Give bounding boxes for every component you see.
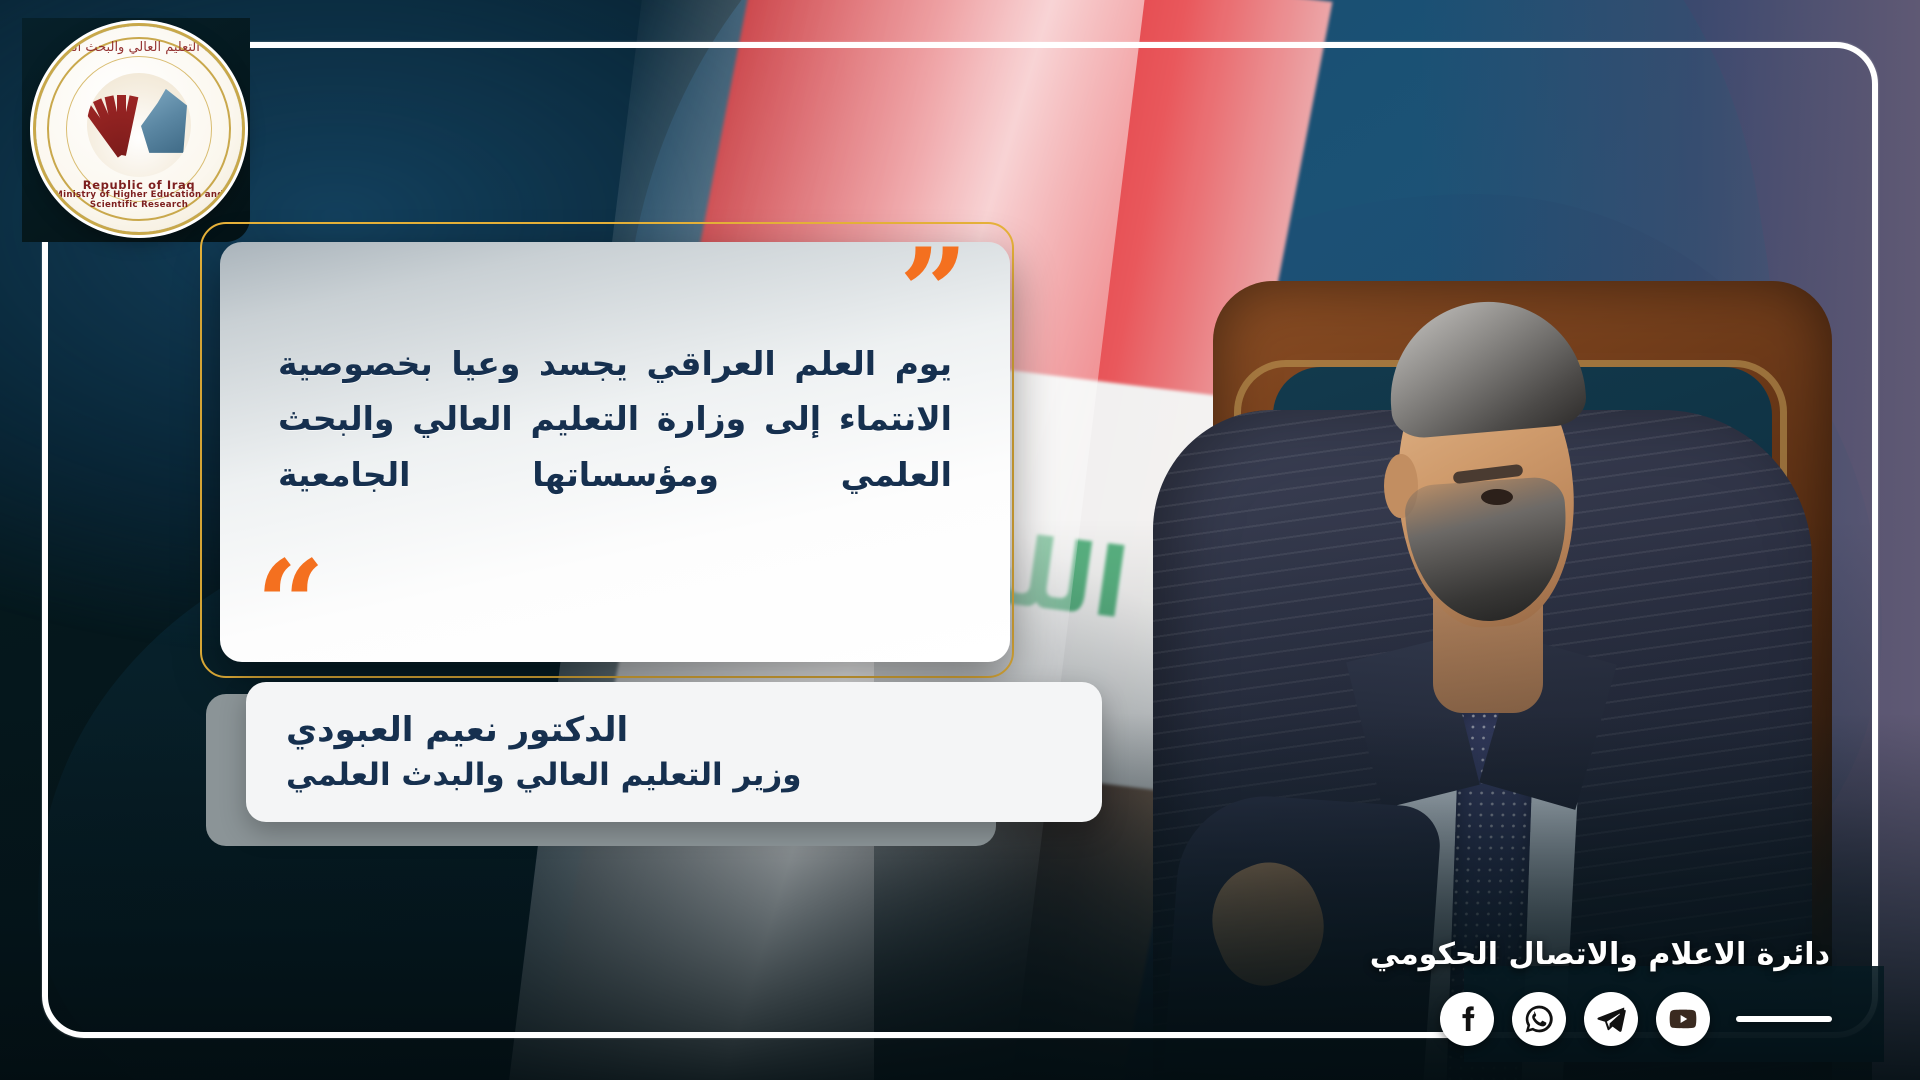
quote-card: ” يوم العلم العراقي يجسد وعيا بخصوصية ال… [220, 242, 1010, 662]
speaker-role: وزير التعليم العالي والبدث العلمي [286, 756, 801, 795]
quote-card-inner: ” يوم العلم العراقي يجسد وعيا بخصوصية ال… [220, 242, 1010, 662]
logo-book-fan-icon [93, 85, 149, 155]
poster-canvas: الله أكبر وزارة التعليم ال [0, 0, 1920, 1080]
quote-mark-close-icon: ” [899, 250, 968, 336]
logo-arabic-text: وزارة التعليم العالي والبحث العلمي [36, 40, 242, 55]
ministry-logo: وزارة التعليم العالي والبحث العلمي Repub… [36, 26, 242, 232]
department-label: دائرة الاعلام والاتصال الحكومي [1370, 937, 1830, 972]
facebook-icon[interactable] [1440, 992, 1494, 1046]
social-divider-bar [1736, 1016, 1832, 1022]
quote-mark-open-icon: “ [256, 562, 325, 648]
telegram-icon[interactable] [1584, 992, 1638, 1046]
logo-ministry-text: Ministry of Higher Education and Scienti… [36, 191, 242, 210]
whatsapp-icon[interactable] [1512, 992, 1566, 1046]
social-links-bar [1440, 992, 1832, 1046]
quote-text: يوم العلم العراقي يجسد وعيا بخصوصية الان… [278, 336, 952, 502]
speaker-nameplate: الدكتور نعيم العبودي وزير التعليم العالي… [246, 682, 1102, 822]
logo-emblem-icon [87, 73, 191, 177]
youtube-icon[interactable] [1656, 992, 1710, 1046]
speaker-name: الدكتور نعيم العبودي [286, 709, 628, 752]
